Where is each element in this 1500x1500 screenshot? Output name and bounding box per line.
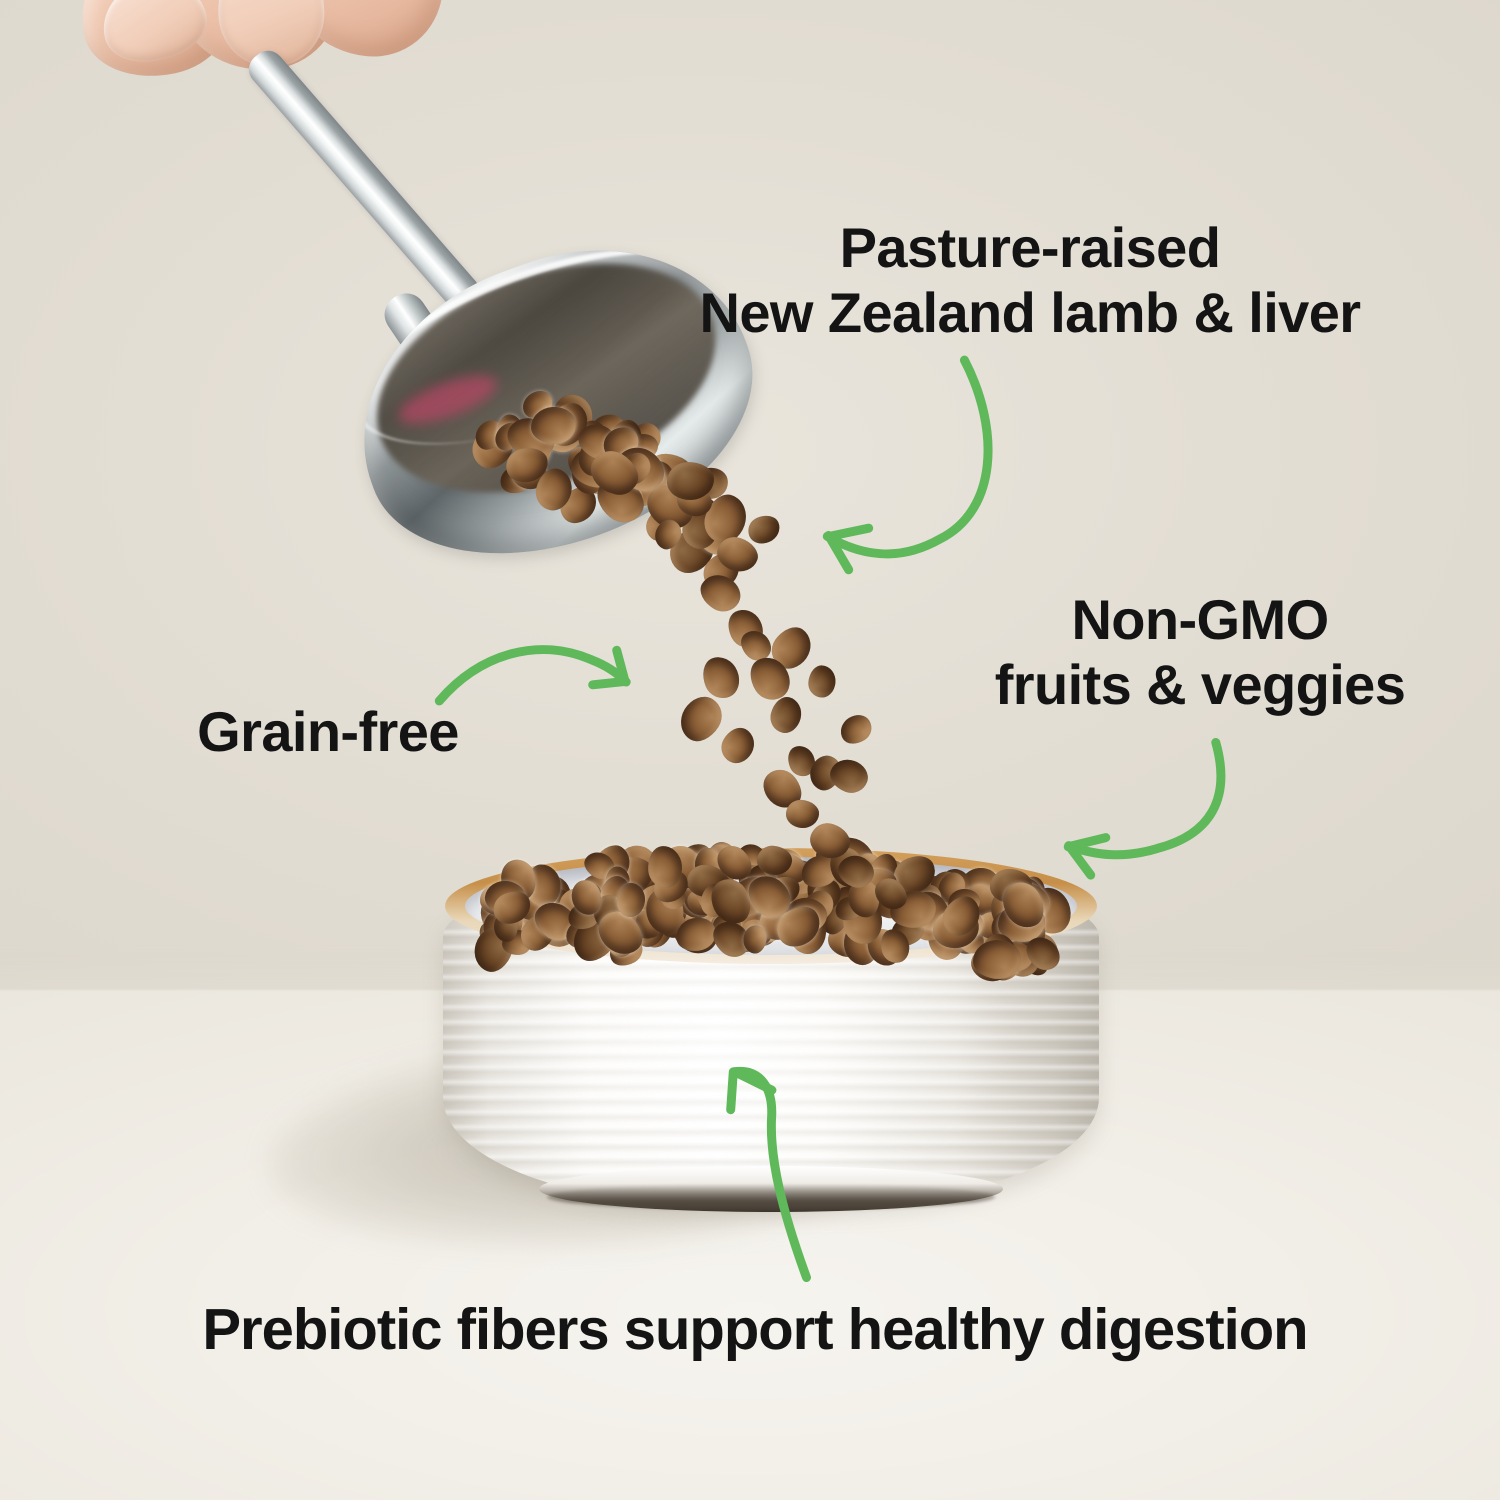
callout-prebiotic-fibers: Prebiotic fibers support healthy digesti… bbox=[60, 1296, 1450, 1363]
product-feature-image: Pasture-raised New Zealand lamb & liver … bbox=[0, 0, 1500, 1500]
callout-grain-free: Grain-free bbox=[108, 700, 548, 765]
hand bbox=[72, 0, 432, 180]
callout-pasture-raised-lamb: Pasture-raised New Zealand lamb & liver bbox=[640, 216, 1420, 346]
bowl-foot-shadow bbox=[547, 1184, 995, 1210]
callout-non-gmo-fruits-veggies: Non-GMO fruits & veggies bbox=[940, 588, 1460, 718]
